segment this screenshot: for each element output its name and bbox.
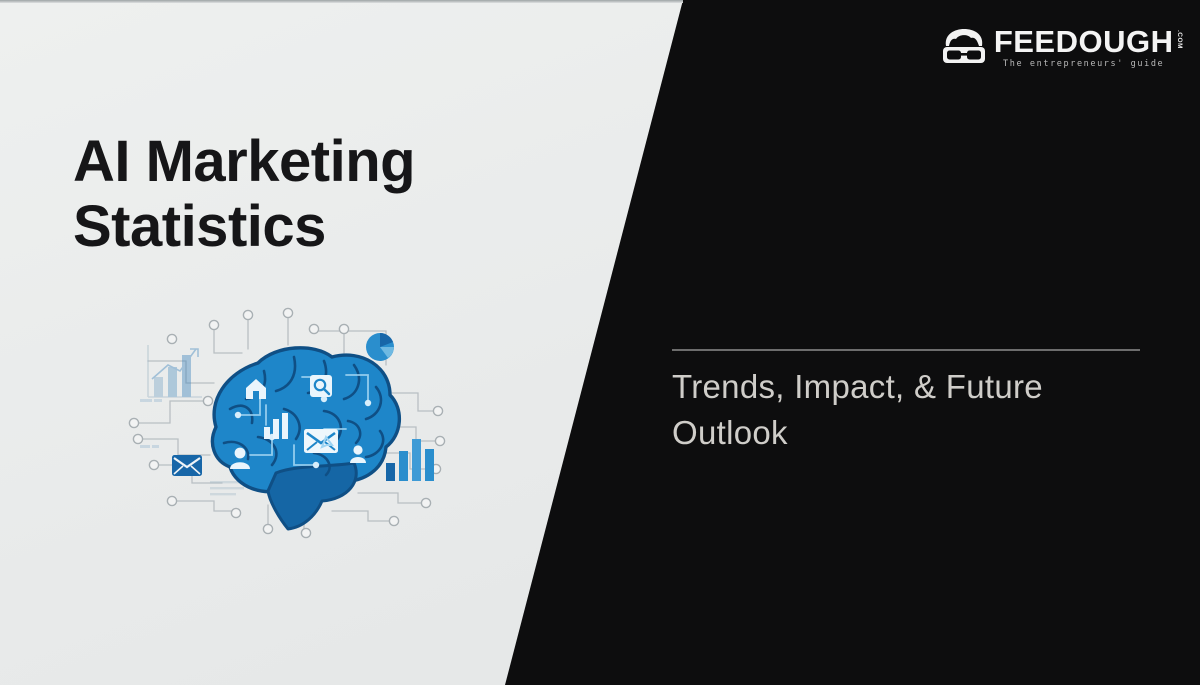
brand-tagline: The entrepreneurs' guide (994, 59, 1174, 69)
slide-canvas: AI Marketing Statistics (0, 0, 1200, 685)
brand-wordmark-group: FEEDOUGH The entrepreneurs' guide .COM (994, 27, 1182, 68)
page-subtitle: Trends, Impact, & Future Outlook (672, 364, 1142, 455)
ai-brain-network-illustration (118, 305, 448, 540)
page-title: AI Marketing Statistics (73, 130, 543, 260)
subtitle-divider (672, 349, 1140, 351)
glasses-hair-face-logo-icon (941, 28, 987, 68)
brand-logo[interactable]: FEEDOUGH The entrepreneurs' guide .COM (941, 22, 1182, 74)
brand-tld: .COM (1176, 30, 1183, 49)
top-divider-line (0, 0, 683, 3)
brand-wordmark: FEEDOUGH (994, 27, 1174, 56)
